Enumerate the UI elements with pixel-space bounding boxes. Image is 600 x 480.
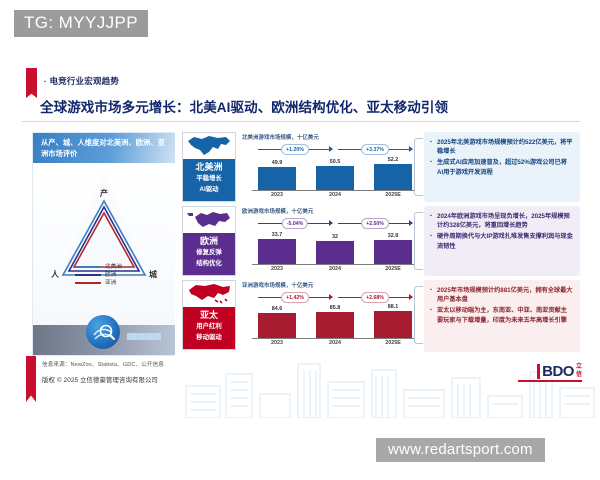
region-name: 亚太: [183, 310, 235, 321]
bar-2025e: [374, 240, 412, 264]
subtitle-bullet: ·: [44, 77, 47, 86]
bdo-logo-underline: [518, 380, 582, 382]
region-sub-line2: 移动驱动: [183, 334, 235, 343]
radar-legend: 北美洲 欧洲 亚洲: [75, 263, 122, 287]
bar-group: 49.9 50.5 52.2: [258, 156, 412, 190]
bar-value: 49.9: [258, 160, 296, 166]
tg-watermark-tag: TG: MYYJJPP: [14, 10, 148, 37]
growth-annotations: +1.20% +3.37%: [258, 144, 412, 155]
tick-label: 2025E: [374, 340, 412, 346]
bdo-logo-bar: [537, 364, 540, 379]
growth-pill-2: +3.37%: [361, 144, 389, 155]
insight-item: 2024年欧洲游戏市场呈现负增长，2025年规模预计约328亿美元，将重回增长趋…: [430, 212, 573, 230]
asia-map-icon: [183, 281, 235, 307]
bar-group: 33.7 32 32.8: [258, 230, 412, 264]
bdo-logo-word: BDO: [542, 364, 574, 379]
slide-canvas: · 电竞行业宏观趋势 全球游戏市场多元增长：北美AI驱动、欧洲结构优化、亚太移动…: [0, 48, 600, 418]
site-watermark: www.redartsport.com: [376, 438, 545, 462]
tick-label: 2024: [316, 266, 354, 272]
chart-axis: [252, 190, 414, 191]
market-evaluation-panel: 从产、城、人维度对北美洲、欧洲、亚洲市场评价 产 城 人 北美洲 欧洲: [32, 132, 174, 356]
insight-box-europe: 2024年欧洲游戏市场呈现负增长，2025年规模预计约328亿美元，将重回增长趋…: [424, 206, 580, 276]
bar-value: 85.8: [316, 305, 354, 311]
legend-swatch-europe: [75, 274, 101, 276]
region-name: 欧洲: [183, 236, 235, 247]
legend-item-europe: 欧洲: [75, 271, 122, 279]
tick-label: 2023: [258, 192, 296, 198]
left-panel-header: 从产、城、人维度对北美洲、欧洲、亚洲市场评价: [33, 133, 175, 163]
bar-2025e: [374, 311, 412, 338]
region-card-europe[interactable]: 欧洲 修复反弹 结构优化: [182, 206, 236, 276]
tick-label: 2024: [316, 192, 354, 198]
svg-text:人: 人: [51, 269, 60, 279]
tick-label: 2025E: [374, 192, 412, 198]
tick-label: 2024: [316, 340, 354, 346]
insights-container: 2025年北美游戏市场规模预计约522亿美元，将平稳增长 生成式AI应用加速普及…: [424, 132, 580, 359]
growth-pill-1: +1.20%: [281, 144, 309, 155]
axis-tick-labels: 2023 2024 2025E: [258, 192, 412, 201]
chart-asia-pacific: 亚洲游戏市场规模，十亿美元 +1.42% +2.68% 84.6: [242, 280, 418, 350]
bar-2024: [316, 241, 354, 264]
insight-item: 硬件周期换代与大IP游戏扎堆发售支撑利润与现金流韧性: [430, 232, 573, 250]
bar-value: 50.5: [316, 159, 354, 165]
footer-ribbon-marker: [26, 356, 36, 402]
chart-title: 亚洲游戏市场规模，十亿美元: [242, 281, 313, 289]
bar-group: 84.6 85.8 88.1: [258, 304, 412, 338]
insight-item: 2025年北美游戏市场规模预计约522亿美元，将平稳增长: [430, 138, 573, 156]
region-sub-line2: 结构优化: [183, 260, 235, 269]
region-label-europe: 欧洲 修复反弹 结构优化: [183, 233, 235, 275]
bar-2023: [258, 239, 296, 264]
axis-tick-labels: 2023 2024 2025E: [258, 266, 412, 275]
subtitle-ribbon-marker: [26, 68, 37, 98]
legend-item-asia: 亚洲: [75, 279, 122, 287]
title-divider: [22, 121, 580, 122]
europe-map-icon: [183, 207, 235, 233]
growth-pill-2: +2.68%: [361, 292, 389, 303]
bar-value: 88.1: [374, 304, 412, 310]
subtitle-text: 电竞行业宏观趋势: [49, 76, 119, 86]
region-card-north-america[interactable]: 北美洲 平稳增长 AI驱动: [182, 132, 236, 202]
radar-chart-area: 产 城 人 北美洲 欧洲 亚洲: [33, 163, 175, 327]
insight-box-north-america: 2025年北美游戏市场规模预计约522亿美元，将平稳增长 生成式AI应用加速普及…: [424, 132, 580, 202]
bar-2024: [316, 166, 354, 190]
growth-pill-1: +1.42%: [281, 292, 309, 303]
regions-container: 北美洲 平稳增长 AI驱动 北美洲游戏市场规模，十亿美元 +1.20% +3.3…: [182, 132, 418, 359]
region-name: 北美洲: [183, 162, 235, 173]
radar-chart: 产 城 人: [33, 163, 175, 327]
region-sub-line1: 平稳增长: [183, 175, 235, 184]
growth-annotations: +1.42% +2.68%: [258, 292, 412, 303]
bar-value: 52.2: [374, 157, 412, 163]
bar-2023: [258, 313, 296, 338]
insight-box-asia-pacific: 2025年市场规模预计约881亿美元，拥有全球最大用户基本盘 亚太以移动端为主，…: [424, 280, 580, 352]
svg-text:产: 产: [100, 188, 108, 198]
connector-bracket-north-america: [414, 138, 423, 196]
chart-title: 欧洲游戏市场规模，十亿美元: [242, 207, 313, 215]
region-row-north-america: 北美洲 平稳增长 AI驱动 北美洲游戏市场规模，十亿美元 +1.20% +3.3…: [182, 132, 418, 202]
bar-value: 32.8: [374, 233, 412, 239]
region-row-europe: 欧洲 修复反弹 结构优化 欧洲游戏市场规模，十亿美元 -5.04% +2.50%: [182, 206, 418, 276]
source-note: 信息来源：NewZoo、Statista、GDC、公开信息: [42, 360, 164, 368]
globe-magnifier-icon: [86, 315, 120, 349]
insight-item: 生成式AI应用加速普及，超过52%游戏公司已将AI用于游戏开发流程: [430, 158, 573, 176]
page-title: 全球游戏市场多元增长：北美AI驱动、欧洲结构优化、亚太移动引领: [40, 96, 448, 116]
growth-pill-1: -5.04%: [282, 218, 308, 229]
north-america-map-icon: [183, 133, 235, 159]
bar-value: 32: [316, 234, 354, 240]
chart-north-america: 北美洲游戏市场规模，十亿美元 +1.20% +3.37% 49.9: [242, 132, 418, 202]
bar-2025e: [374, 164, 412, 190]
legend-label-asia: 亚洲: [105, 279, 116, 287]
bdo-logo: BDO 立 信: [537, 364, 582, 379]
chart-title: 北美洲游戏市场规模，十亿美元: [242, 133, 319, 141]
growth-pill-2: +2.50%: [361, 218, 389, 229]
growth-annotations: -5.04% +2.50%: [258, 218, 412, 229]
region-row-asia-pacific: 亚太 用户红利 移动驱动 亚洲游戏市场规模，十亿美元 +1.42% +2.68%: [182, 280, 418, 350]
tick-label: 2023: [258, 266, 296, 272]
connector-bracket-europe: [414, 212, 423, 270]
legend-label-europe: 欧洲: [105, 271, 116, 279]
region-label-asia-pacific: 亚太 用户红利 移动驱动: [183, 307, 235, 349]
bar-value: 84.6: [258, 306, 296, 312]
footer-band-strip: [127, 333, 161, 340]
chart-europe: 欧洲游戏市场规模，十亿美元 -5.04% +2.50% 33.7: [242, 206, 418, 276]
insight-item: 2025年市场规模预计约881亿美元，拥有全球最大用户基本盘: [430, 286, 573, 304]
chart-axis: [252, 264, 414, 265]
region-sub-line1: 用户红利: [183, 323, 235, 332]
chart-axis: [252, 338, 414, 339]
region-label-north-america: 北美洲 平稳增长 AI驱动: [183, 159, 235, 201]
section-subtitle: · 电竞行业宏观趋势: [44, 75, 119, 87]
region-sub-line1: 修复反弹: [183, 249, 235, 258]
legend-swatch-asia: [75, 282, 101, 284]
axis-tick-labels: 2023 2024 2025E: [258, 340, 412, 349]
legend-swatch-north-america: [75, 266, 101, 268]
legend-item-north-america: 北美洲: [75, 263, 122, 271]
legend-label-north-america: 北美洲: [105, 263, 122, 271]
bar-2023: [258, 167, 296, 190]
region-sub-line2: AI驱动: [183, 186, 235, 195]
connector-bracket-asia-pacific: [414, 286, 423, 344]
insight-item: 亚太以移动端为主，东南亚、中亚、南亚贡献主要玩家与下载增量，印度为未来五年高增长…: [430, 306, 573, 324]
tick-label: 2023: [258, 340, 296, 346]
bar-value: 33.7: [258, 232, 296, 238]
bdo-logo-cn-1: 立: [576, 364, 582, 371]
bdo-logo-cn-2: 信: [576, 372, 582, 379]
svg-text:城: 城: [149, 269, 157, 279]
bar-2024: [316, 312, 354, 338]
copyright-note: 版权 © 2025 立信德豪管理咨询有限公司: [42, 375, 158, 384]
region-card-asia-pacific[interactable]: 亚太 用户红利 移动驱动: [182, 280, 236, 350]
tick-label: 2025E: [374, 266, 412, 272]
